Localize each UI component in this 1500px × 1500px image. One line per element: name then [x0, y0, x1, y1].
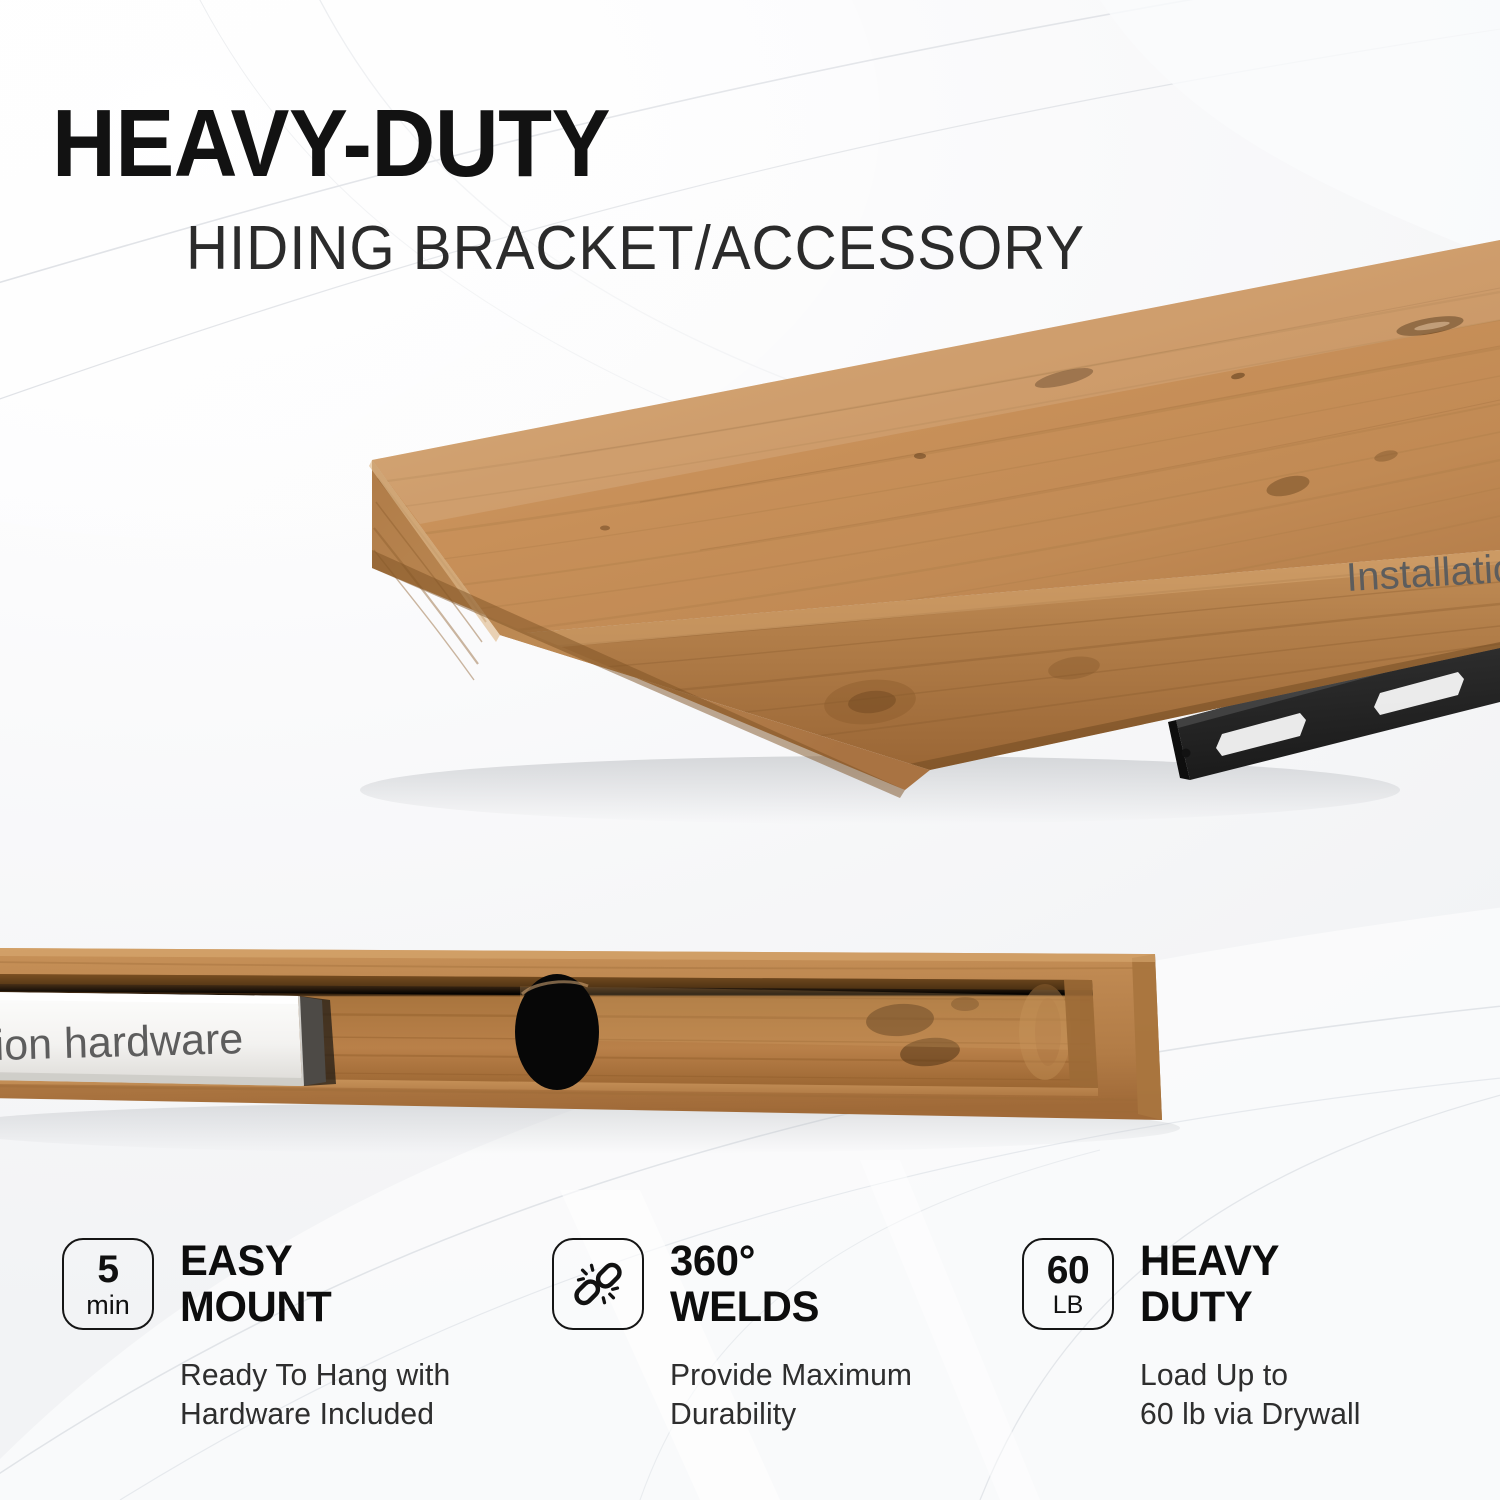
badge-number: 5 — [97, 1250, 118, 1289]
badge-unit: min — [86, 1292, 130, 1319]
feature-easy-mount: 5 min EASY MOUNT Ready To Hang with Hard… — [62, 1238, 552, 1448]
feature-description: Provide Maximum Durability — [670, 1356, 1011, 1433]
product-photo-top — [0, 250, 1500, 870]
page-title: HEAVY-DUTY — [52, 96, 610, 192]
chain-link-weld-icon-frame — [552, 1238, 644, 1330]
feature-heavy-duty: 60 LB HEAVY DUTY Load Up to 60 lb via Dr… — [1022, 1238, 1442, 1448]
feature-description: Ready To Hang with Hardware Included — [180, 1356, 541, 1433]
feature-360-welds: 360° WELDS Provide Maximum Durability — [552, 1238, 1022, 1448]
feature-head: 5 min EASY MOUNT — [62, 1238, 552, 1330]
feature-head: 60 LB HEAVY DUTY — [1022, 1238, 1442, 1330]
feature-row: 5 min EASY MOUNT Ready To Hang with Hard… — [0, 1238, 1500, 1448]
chain-link-weld-icon — [572, 1258, 624, 1310]
page-subtitle: HIDING BRACKET/ACCESSORY — [186, 218, 1085, 280]
feature-description: Load Up to 60 lb via Drywall — [1140, 1356, 1433, 1433]
feature-title: HEAVY DUTY — [1140, 1238, 1279, 1330]
feature-title: 360° WELDS — [670, 1238, 819, 1330]
feature-head: 360° WELDS — [552, 1238, 1022, 1330]
feature-title: EASY MOUNT — [180, 1238, 331, 1330]
five-minute-badge-icon: 5 min — [62, 1238, 154, 1330]
badge-number: 60 — [1047, 1251, 1089, 1290]
badge-unit: LB — [1053, 1293, 1084, 1318]
installation-hardware-label-bottom: ion hardware — [0, 1015, 244, 1071]
sixty-pound-badge-icon: 60 LB — [1022, 1238, 1114, 1330]
installation-hardware-label-top: Installatio — [1345, 547, 1500, 601]
